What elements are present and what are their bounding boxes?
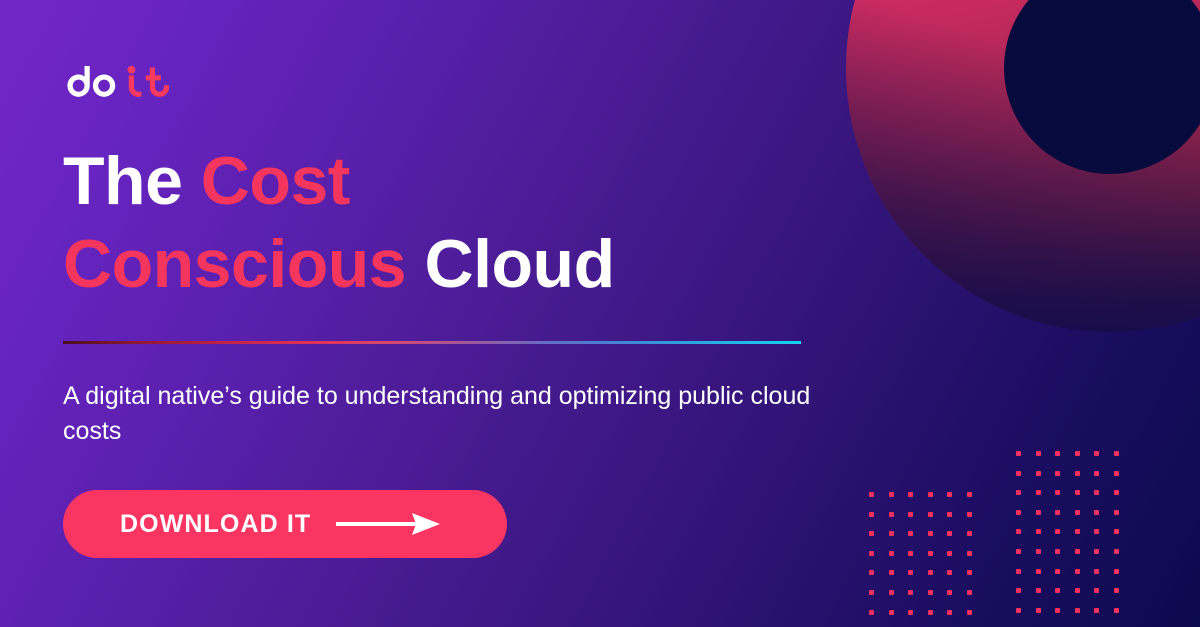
dot bbox=[889, 531, 894, 536]
dot bbox=[1016, 608, 1021, 613]
dot bbox=[1036, 549, 1041, 554]
dot bbox=[1055, 549, 1060, 554]
dot bbox=[1016, 510, 1021, 515]
subtitle: A digital native’s guide to understandin… bbox=[63, 379, 853, 449]
dot bbox=[908, 531, 913, 536]
gradient-divider bbox=[63, 341, 801, 344]
dot bbox=[947, 551, 952, 556]
ring-fade-overlay bbox=[846, 0, 1200, 332]
headline-line2-plain: Cloud bbox=[406, 226, 615, 302]
dot bbox=[1114, 569, 1119, 574]
dot bbox=[967, 590, 972, 595]
ring-inner-hole bbox=[1004, 0, 1200, 174]
dot bbox=[1016, 529, 1021, 534]
dot bbox=[928, 551, 933, 556]
dot bbox=[947, 531, 952, 536]
headline-line2-accent: Conscious bbox=[63, 226, 406, 302]
dot bbox=[1094, 569, 1099, 574]
dot bbox=[967, 551, 972, 556]
dot bbox=[908, 551, 913, 556]
download-it-label: DOWNLOAD IT bbox=[120, 510, 311, 539]
dot bbox=[1055, 569, 1060, 574]
dot bbox=[1036, 490, 1041, 495]
dot bbox=[928, 610, 933, 615]
dot bbox=[889, 551, 894, 556]
dot bbox=[869, 551, 874, 556]
dot bbox=[1036, 569, 1041, 574]
dot bbox=[947, 610, 952, 615]
dot bbox=[1075, 529, 1080, 534]
content-column: The CostConscious Cloud A digital native… bbox=[63, 0, 863, 627]
dot bbox=[1114, 588, 1119, 593]
dot bbox=[1055, 471, 1060, 476]
dot bbox=[1075, 490, 1080, 495]
dot bbox=[1036, 451, 1041, 456]
dot bbox=[869, 492, 874, 497]
dot bbox=[1055, 451, 1060, 456]
dot bbox=[1055, 588, 1060, 593]
dot bbox=[1114, 451, 1119, 456]
dot bbox=[1075, 510, 1080, 515]
promo-banner: The CostConscious Cloud A digital native… bbox=[0, 0, 1200, 627]
headline-line1-plain: The bbox=[63, 143, 201, 219]
dot bbox=[889, 570, 894, 575]
dot bbox=[1075, 471, 1080, 476]
dot bbox=[1036, 510, 1041, 515]
dot bbox=[908, 492, 913, 497]
dot bbox=[1036, 608, 1041, 613]
dot bbox=[1016, 569, 1021, 574]
dot bbox=[1114, 529, 1119, 534]
dot bbox=[1055, 490, 1060, 495]
dot bbox=[1075, 588, 1080, 593]
dot bbox=[928, 492, 933, 497]
headline-line1-accent: Cost bbox=[201, 143, 350, 219]
dot bbox=[947, 492, 952, 497]
dot bbox=[1055, 510, 1060, 515]
dot bbox=[1094, 471, 1099, 476]
dot bbox=[947, 512, 952, 517]
dot bbox=[1094, 549, 1099, 554]
dot bbox=[1036, 529, 1041, 534]
dot bbox=[869, 590, 874, 595]
dot bbox=[889, 590, 894, 595]
dot bbox=[1094, 588, 1099, 593]
dot bbox=[869, 570, 874, 575]
dot bbox=[1094, 490, 1099, 495]
dot bbox=[1094, 510, 1099, 515]
dot bbox=[967, 531, 972, 536]
dot bbox=[869, 610, 874, 615]
dot bbox=[1016, 490, 1021, 495]
dot bbox=[1016, 451, 1021, 456]
arrow-right-icon bbox=[336, 511, 440, 537]
dot bbox=[1036, 588, 1041, 593]
dot bbox=[908, 590, 913, 595]
dot bbox=[947, 590, 952, 595]
dot bbox=[1075, 549, 1080, 554]
dot bbox=[967, 570, 972, 575]
dot bbox=[889, 492, 894, 497]
dot bbox=[1094, 608, 1099, 613]
dot bbox=[928, 531, 933, 536]
dot bbox=[928, 590, 933, 595]
dot bbox=[1016, 549, 1021, 554]
dot bbox=[1016, 471, 1021, 476]
dot bbox=[1094, 529, 1099, 534]
dot bbox=[967, 492, 972, 497]
dot bbox=[869, 531, 874, 536]
dot bbox=[1036, 471, 1041, 476]
dot bbox=[967, 512, 972, 517]
dot bbox=[1114, 510, 1119, 515]
dot bbox=[1055, 529, 1060, 534]
dot bbox=[1075, 451, 1080, 456]
dot bbox=[908, 610, 913, 615]
dot bbox=[908, 512, 913, 517]
dot bbox=[1094, 451, 1099, 456]
dot bbox=[1075, 569, 1080, 574]
dot bbox=[869, 512, 874, 517]
dot bbox=[1114, 471, 1119, 476]
dot bbox=[928, 570, 933, 575]
dot bbox=[1016, 588, 1021, 593]
dot bbox=[889, 512, 894, 517]
dot bbox=[947, 570, 952, 575]
dot bbox=[1114, 608, 1119, 613]
dot bbox=[1055, 608, 1060, 613]
doit-logo[interactable] bbox=[63, 57, 187, 107]
ring-outer-shape bbox=[846, 0, 1200, 332]
ring-donut-icon bbox=[846, 0, 1200, 332]
dot bbox=[908, 570, 913, 575]
headline: The CostConscious Cloud bbox=[63, 140, 843, 306]
dot bbox=[1114, 549, 1119, 554]
dot bbox=[1114, 490, 1119, 495]
dot bbox=[1075, 608, 1080, 613]
dot bbox=[889, 610, 894, 615]
dot bbox=[967, 610, 972, 615]
download-it-button[interactable]: DOWNLOAD IT bbox=[63, 490, 507, 558]
dot bbox=[928, 512, 933, 517]
